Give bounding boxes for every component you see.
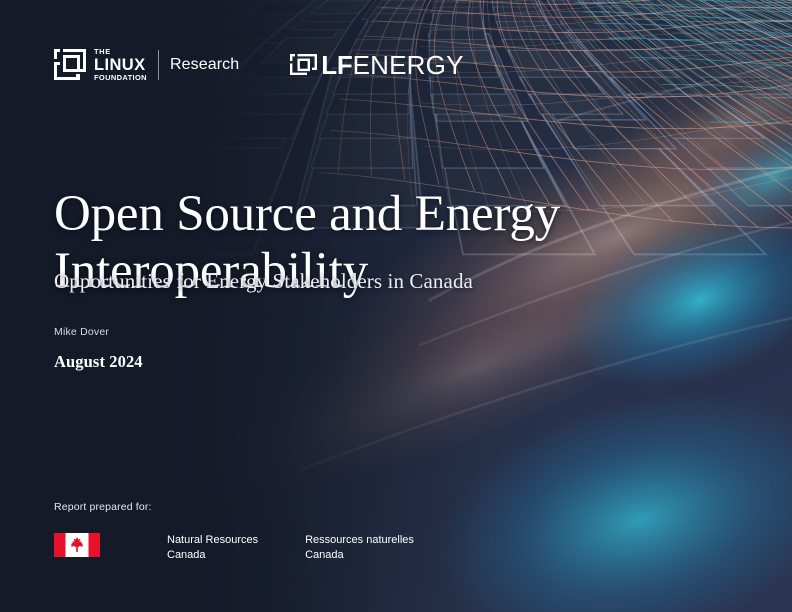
linux-foundation-bracket-mark-icon <box>54 49 86 80</box>
government-of-canada-block: Natural Resources Canada Ressources natu… <box>54 533 414 562</box>
lf-research-label: Research <box>170 56 239 74</box>
lf-foundation-text: FOUNDATION <box>94 74 147 82</box>
report-subtitle: Opportunities for Energy Stakeholders in… <box>54 269 473 294</box>
lf-energy-logo: LF ENERGY <box>290 52 463 78</box>
organization-name-en: Natural Resources Canada <box>167 533 258 562</box>
linux-foundation-research-logo: THE LINUX FOUNDATION Research <box>54 48 239 82</box>
organization-name-fr: Ressources naturelles Canada <box>305 533 414 562</box>
lf-energy-lf-text: LF <box>321 52 352 78</box>
cover-content: THE LINUX FOUNDATION Research LF ENERGY <box>0 0 792 612</box>
report-publication-date: August 2024 <box>54 352 143 372</box>
logo-divider <box>158 50 159 80</box>
report-author: Mike Dover <box>54 326 109 338</box>
linux-foundation-wordmark: THE LINUX FOUNDATION <box>94 48 147 82</box>
prepared-for-label: Report prepared for: <box>54 501 152 513</box>
lf-energy-energy-text: ENERGY <box>353 52 464 78</box>
report-cover-page: THE LINUX FOUNDATION Research LF ENERGY <box>0 0 792 612</box>
logo-row: THE LINUX FOUNDATION Research LF ENERGY <box>54 48 464 82</box>
canada-flag-icon <box>54 533 100 557</box>
report-title-line-1: Open Source and Energy <box>54 186 560 242</box>
lf-the-text: THE <box>94 48 147 56</box>
lf-linux-text: LINUX <box>94 57 147 74</box>
lf-energy-bracket-mark-icon <box>290 54 317 75</box>
